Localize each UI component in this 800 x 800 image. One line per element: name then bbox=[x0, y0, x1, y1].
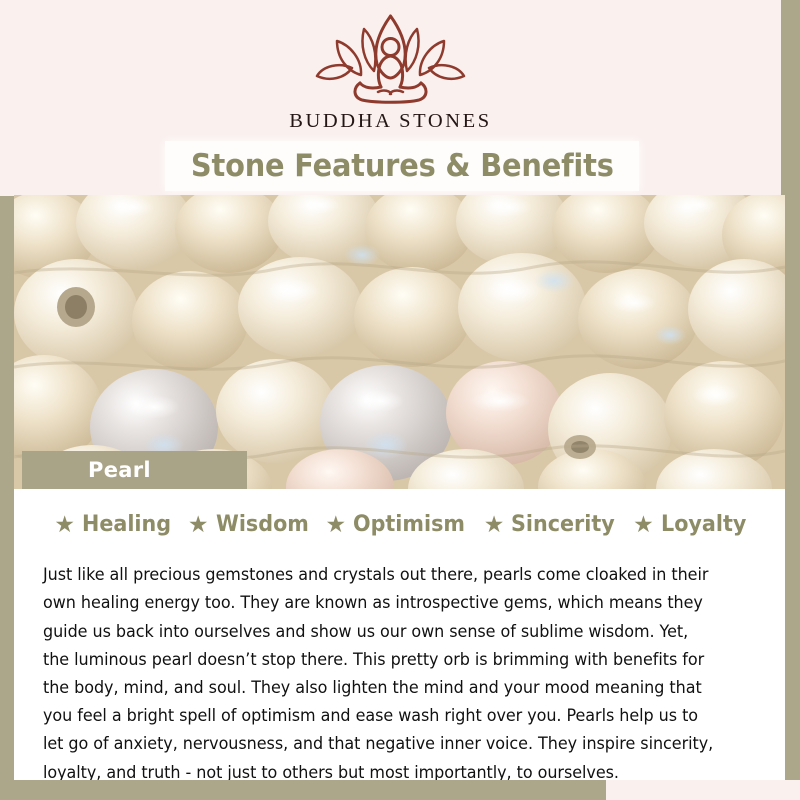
bottom-right-margin bbox=[606, 780, 800, 800]
pearl-cluster-photo bbox=[14, 195, 785, 489]
stone-description: Just like all precious gemstones and cry… bbox=[43, 561, 713, 787]
brand-logo-block: BUDDHA STONES bbox=[0, 12, 781, 133]
content-card: ★ Healing ★ Wisdom ★ Optimism ★ Sincerit… bbox=[14, 489, 785, 780]
benefit-label: Healing bbox=[82, 511, 171, 537]
stone-name-text: Pearl bbox=[88, 458, 151, 482]
title-banner: Stone Features & Benefits bbox=[165, 141, 639, 191]
star-icon: ★ bbox=[54, 513, 75, 536]
benefit-label: Loyalty bbox=[661, 511, 746, 537]
benefit-label: Wisdom bbox=[216, 511, 309, 537]
stone-name-label: Pearl bbox=[22, 451, 247, 489]
brand-wordmark: BUDDHA STONES bbox=[0, 110, 781, 133]
benefit-label: Optimism bbox=[353, 511, 465, 537]
benefit-item: ★ Optimism bbox=[316, 511, 474, 537]
benefit-item: ★ Sincerity bbox=[475, 511, 624, 537]
page-title: Stone Features & Benefits bbox=[191, 148, 614, 184]
star-icon: ★ bbox=[633, 513, 654, 536]
benefit-item: ★ Loyalty bbox=[624, 511, 753, 537]
header-right-margin bbox=[781, 0, 800, 196]
lotus-meditation-icon bbox=[308, 12, 473, 104]
benefit-item: ★ Healing bbox=[45, 511, 178, 537]
bottom-accent-bar bbox=[14, 780, 606, 800]
benefits-row: ★ Healing ★ Wisdom ★ Optimism ★ Sincerit… bbox=[14, 511, 785, 537]
bottom-left-margin bbox=[0, 780, 14, 800]
star-icon: ★ bbox=[484, 513, 505, 536]
benefit-item: ★ Wisdom bbox=[179, 511, 317, 537]
benefit-label: Sincerity bbox=[511, 511, 615, 537]
star-icon: ★ bbox=[188, 513, 209, 536]
star-icon: ★ bbox=[325, 513, 346, 536]
stone-benefits-poster: BUDDHA STONES Stone Features & Benefits bbox=[0, 0, 800, 800]
